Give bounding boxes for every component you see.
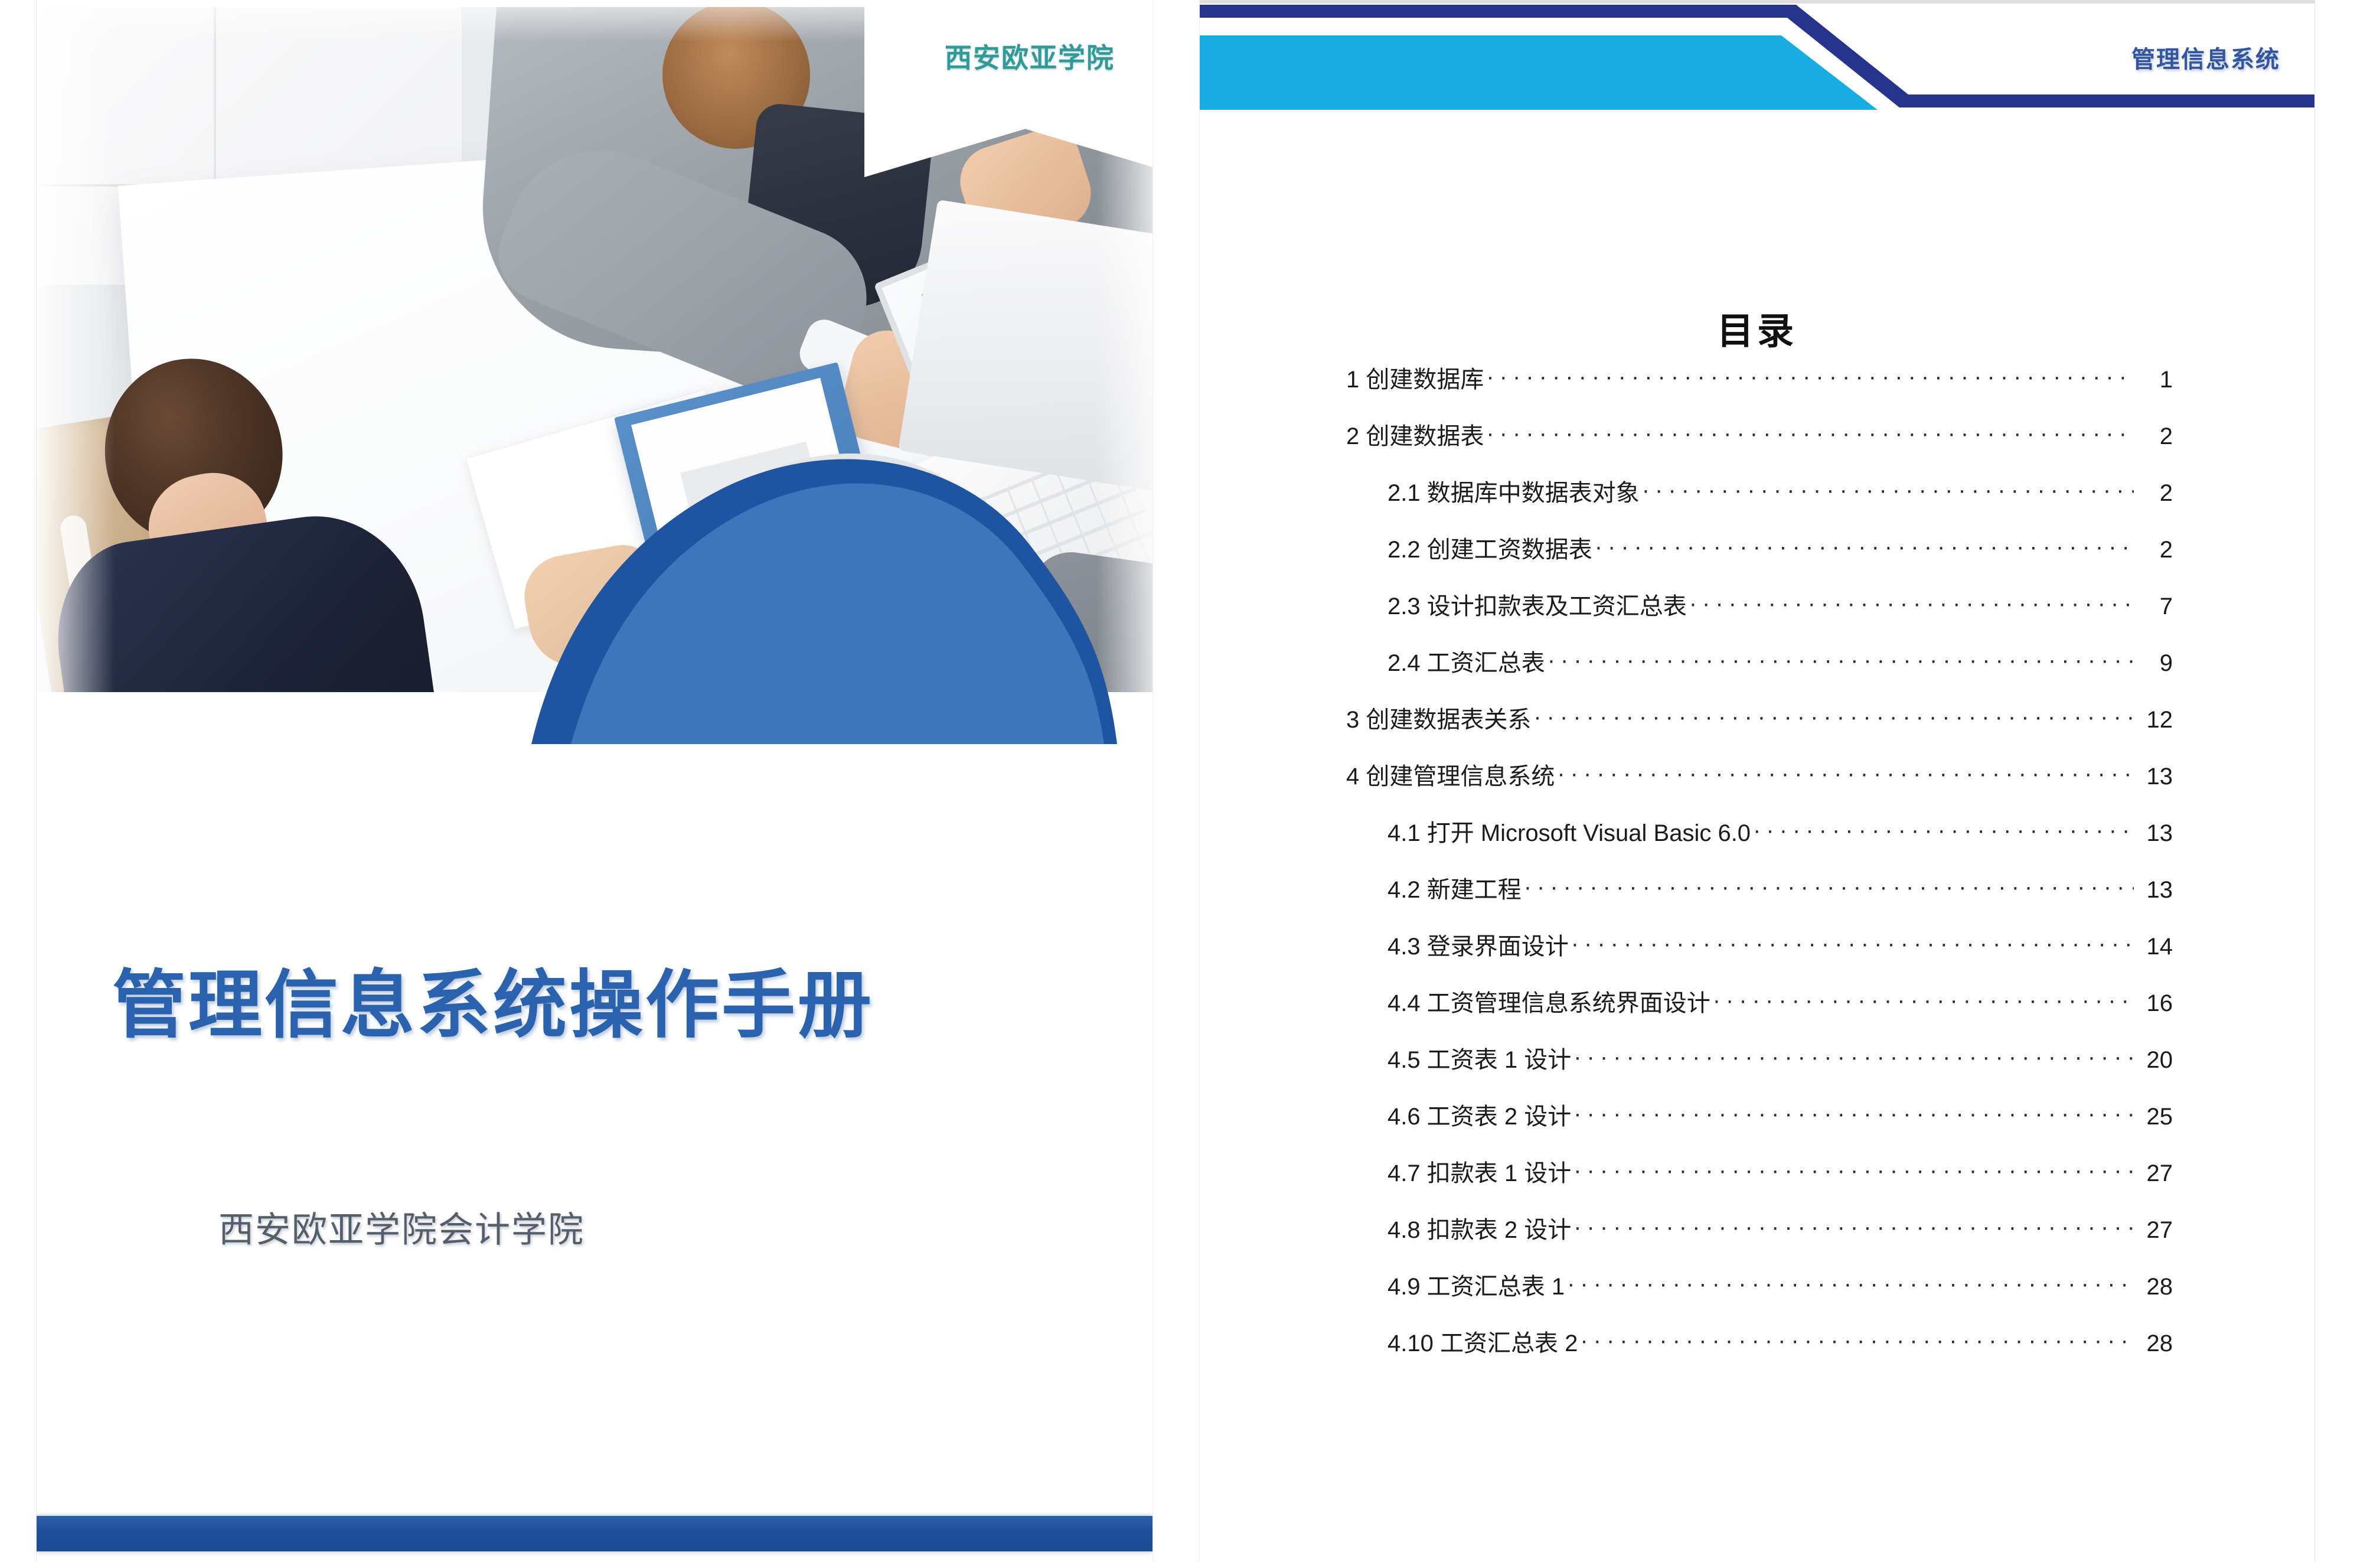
document-spread: 西安欧亚学院 管理信息系统操作手册 西安欧亚学院会计学院 管理信息系统 目录 1…	[0, 0, 2380, 1562]
toc-entry-leader-dots	[1486, 420, 2134, 444]
toc-entry-label: 4.5 工资表 1 设计	[1387, 1041, 1571, 1075]
toc-entry-page-number: 12	[2136, 707, 2173, 733]
toc-entry-label: 4.9 工资汇总表 1	[1387, 1267, 1565, 1302]
toc-entry-label: 1 创建数据库	[1346, 360, 1484, 394]
toc-header-title: 管理信息系统	[2131, 40, 2280, 74]
toc-entry-page-number: 14	[2136, 934, 2173, 960]
toc-entry-leader-dots	[1486, 364, 2134, 387]
toc-entry-leader-dots	[1580, 1328, 2134, 1351]
toc-entry[interactable]: 2 创建数据表2	[1346, 417, 2173, 474]
toc-entry-page-number: 13	[2136, 820, 2173, 847]
toc-entry[interactable]: 4.8 扣款表 2 设计27	[1346, 1211, 2173, 1267]
toc-entry-page-number: 7	[2136, 594, 2173, 620]
toc-entry-label: 2.3 设计扣款表及工资汇总表	[1387, 587, 1687, 621]
toc-entry-page-number: 20	[2136, 1047, 2173, 1074]
toc-entry-page-number: 28	[2136, 1331, 2173, 1357]
cover-subtitle: 西安欧亚学院会计学院	[218, 1201, 585, 1253]
toc-entry-leader-dots	[1557, 761, 2134, 784]
toc-entry[interactable]: 4.9 工资汇总表 128	[1346, 1267, 2173, 1324]
toc-entry-leader-dots	[1689, 591, 2134, 614]
toc-entry[interactable]: 2.1 数据库中数据表对象2	[1346, 474, 2173, 530]
toc-entry-leader-dots	[1573, 1044, 2134, 1068]
toc-entry-label: 4.6 工资表 2 设计	[1387, 1097, 1571, 1131]
toc-entry[interactable]: 4.7 扣款表 1 设计27	[1346, 1154, 2173, 1211]
toc-entry-page-number: 9	[2136, 650, 2173, 677]
toc-entry-label: 3 创建数据表关系	[1346, 700, 1531, 735]
toc-entry[interactable]: 2.3 设计扣款表及工资汇总表7	[1346, 587, 2173, 644]
toc-entry-page-number: 28	[2136, 1274, 2173, 1300]
toc-entry-label: 2 创建数据表	[1346, 417, 1484, 451]
toc-entry-leader-dots	[1753, 817, 2134, 841]
cover-title: 管理信息系统操作手册	[112, 945, 874, 1052]
toc-entry[interactable]: 4.10 工资汇总表 228	[1346, 1324, 2173, 1381]
toc-entry-label: 4.8 扣款表 2 设计	[1387, 1211, 1571, 1245]
toc-entry-page-number: 16	[2136, 990, 2173, 1017]
toc-entry[interactable]: 4.5 工资表 1 设计20	[1346, 1041, 2173, 1097]
toc-entry-label: 4 创建管理信息系统	[1346, 757, 1555, 791]
toc-entry-page-number: 2	[2136, 423, 2173, 450]
toc-entry-page-number: 2	[2136, 537, 2173, 563]
toc-entry-page-number: 27	[2136, 1217, 2173, 1244]
cover-bottom-bar	[37, 1516, 1153, 1551]
toc-entry-leader-dots	[1524, 874, 2134, 898]
toc-entry-page-number: 2	[2136, 480, 2173, 507]
toc-header-banner: 管理信息系统	[1200, 0, 2314, 125]
toc-heading: 目录	[1200, 301, 2314, 354]
toc-entry-label: 4.2 新建工程	[1387, 870, 1522, 905]
toc-entry-label: 4.4 工资管理信息系统界面设计	[1387, 984, 1710, 1018]
toc-entry-label: 4.10 工资汇总表 2	[1387, 1324, 1578, 1358]
toc-entry-page-number: 13	[2136, 877, 2173, 904]
toc-entry-list: 1 创建数据库12 创建数据表22.1 数据库中数据表对象22.2 创建工资数据…	[1346, 360, 2173, 1381]
toc-entry-page-number: 13	[2136, 764, 2173, 790]
cover-page: 西安欧亚学院 管理信息系统操作手册 西安欧亚学院会计学院	[37, 0, 1153, 1562]
toc-entry-leader-dots	[1595, 534, 2134, 557]
toc-entry-leader-dots	[1573, 1101, 2134, 1124]
toc-entry-label: 2.4 工资汇总表	[1387, 644, 1545, 678]
toc-entry[interactable]: 3 创建数据表关系12	[1346, 700, 2173, 757]
cover-logo-text: 西安欧亚学院	[894, 37, 1153, 76]
toc-entry-leader-dots	[1642, 477, 2134, 501]
toc-entry-page-number: 25	[2136, 1104, 2173, 1130]
toc-entry-page-number: 27	[2136, 1160, 2173, 1187]
toc-entry-label: 4.1 打开 Microsoft Visual Basic 6.0	[1387, 814, 1751, 848]
toc-entry[interactable]: 4.2 新建工程13	[1346, 870, 2173, 927]
toc-entry-leader-dots	[1567, 1271, 2134, 1294]
toc-entry[interactable]: 4.1 打开 Microsoft Visual Basic 6.013	[1346, 814, 2173, 870]
toc-entry-page-number: 1	[2136, 367, 2173, 393]
toc-entry-label: 2.2 创建工资数据表	[1387, 530, 1592, 565]
toc-entry[interactable]: 1 创建数据库1	[1346, 360, 2173, 417]
toc-entry-label: 2.1 数据库中数据表对象	[1387, 474, 1640, 508]
toc-entry-label: 4.7 扣款表 1 设计	[1387, 1154, 1571, 1188]
toc-entry-leader-dots	[1713, 987, 2134, 1011]
toc-entry[interactable]: 4.3 登录界面设计14	[1346, 927, 2173, 984]
toc-entry-leader-dots	[1571, 931, 2134, 954]
toc-entry[interactable]: 4.6 工资表 2 设计25	[1346, 1097, 2173, 1154]
toc-page: 管理信息系统 目录 1 创建数据库12 创建数据表22.1 数据库中数据表对象2…	[1200, 0, 2314, 1562]
toc-entry[interactable]: 4 创建管理信息系统13	[1346, 757, 2173, 814]
toc-entry-label: 4.3 登录界面设计	[1387, 927, 1569, 961]
toc-entry-leader-dots	[1573, 1214, 2134, 1238]
toc-entry-leader-dots	[1548, 647, 2134, 671]
header-top-rule	[1200, 0, 2314, 4]
toc-entry[interactable]: 4.4 工资管理信息系统界面设计16	[1346, 984, 2173, 1041]
toc-entry-leader-dots	[1533, 704, 2134, 728]
header-cyan-parallelogram	[1200, 35, 1878, 110]
toc-entry-leader-dots	[1573, 1157, 2134, 1181]
toc-entry[interactable]: 2.4 工资汇总表9	[1346, 644, 2173, 700]
toc-entry[interactable]: 2.2 创建工资数据表2	[1346, 530, 2173, 587]
